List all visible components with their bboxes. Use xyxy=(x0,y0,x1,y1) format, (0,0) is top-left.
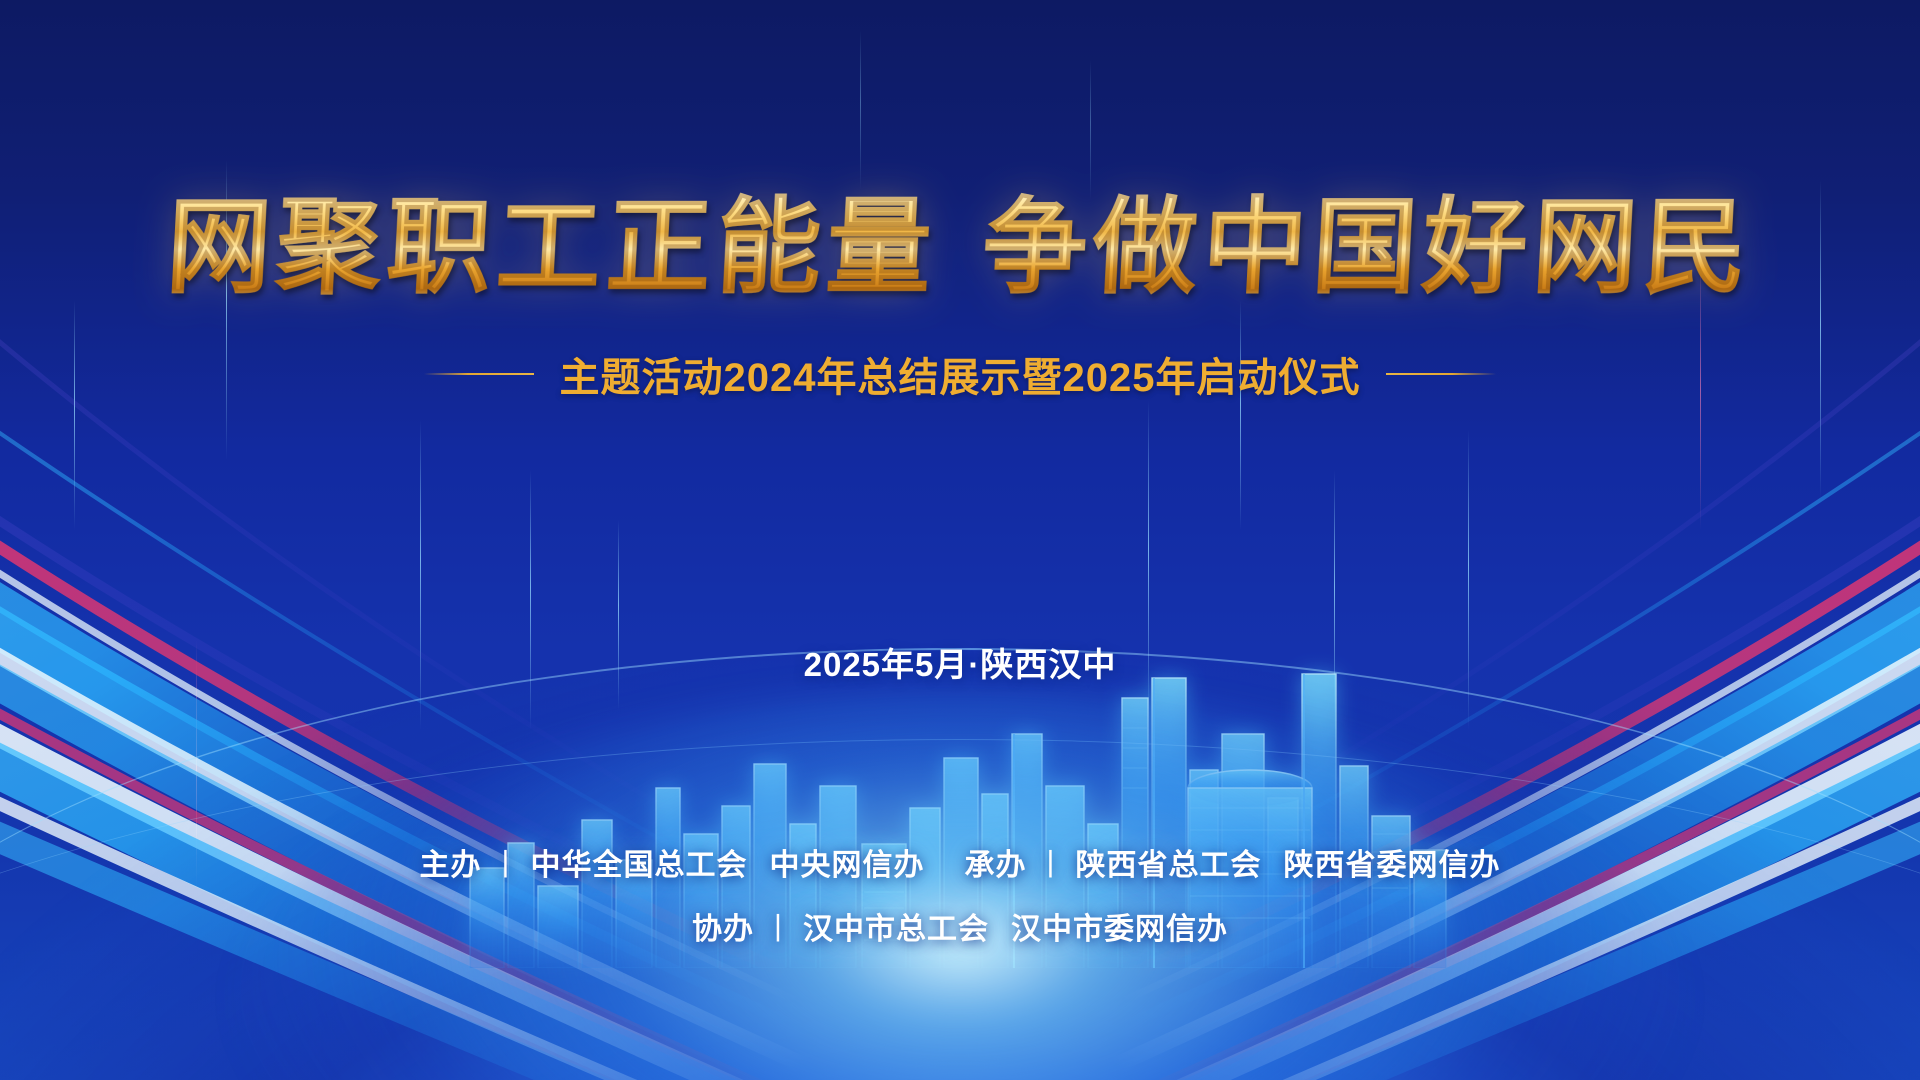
separator-glyph: 丨 xyxy=(754,904,803,948)
subtitle-rule-left xyxy=(424,373,534,375)
host-role: 主办 xyxy=(420,849,482,882)
main-title-block: 网聚职工正能量争做中国好网民 xyxy=(0,192,1920,302)
coorganizer-unit-2: 汉中市委网信办 xyxy=(1011,913,1228,946)
undertaker-unit-2: 陕西省委网信办 xyxy=(1284,849,1501,882)
subtitle-text: 主题活动2024年总结展示暨2025年启动仪式 xyxy=(560,345,1361,403)
host-unit-1: 中华全国总工会 xyxy=(531,849,748,882)
undertaker-unit-1: 陕西省总工会 xyxy=(1076,849,1262,882)
coorganizer-role: 协办 xyxy=(692,913,754,946)
organizer-line-1: 主办丨中华全国总工会中央网信办承办丨陕西省总工会陕西省委网信办 xyxy=(0,840,1920,884)
undertaker-role: 承办 xyxy=(965,849,1027,882)
light-rod-icon xyxy=(1090,60,1091,200)
subtitle-rule-right xyxy=(1386,373,1496,375)
coorganizer-unit-1: 汉中市总工会 xyxy=(803,913,989,946)
host-unit-2: 中央网信办 xyxy=(770,849,925,882)
date-location: 2025年5月·陕西汉中 xyxy=(0,638,1920,686)
organizers-block: 主办丨中华全国总工会中央网信办承办丨陕西省总工会陕西省委网信办 协办丨汉中市总工… xyxy=(0,840,1920,948)
separator-glyph: 丨 xyxy=(482,840,531,884)
main-title-part1: 网聚职工正能量 xyxy=(164,185,940,308)
light-rod-icon xyxy=(860,30,861,190)
main-title: 网聚职工正能量争做中国好网民 xyxy=(164,192,1756,302)
poster-canvas: 网聚职工正能量争做中国好网民 主题活动2024年总结展示暨2025年启动仪式 2… xyxy=(0,0,1920,1080)
organizer-line-2: 协办丨汉中市总工会汉中市委网信办 xyxy=(0,904,1920,948)
separator-glyph: 丨 xyxy=(1027,840,1076,884)
main-title-part2: 争做中国好网民 xyxy=(980,185,1756,308)
subtitle-block: 主题活动2024年总结展示暨2025年启动仪式 xyxy=(0,345,1920,403)
light-rod-icon xyxy=(1240,300,1241,530)
light-rod-icon xyxy=(74,300,75,530)
